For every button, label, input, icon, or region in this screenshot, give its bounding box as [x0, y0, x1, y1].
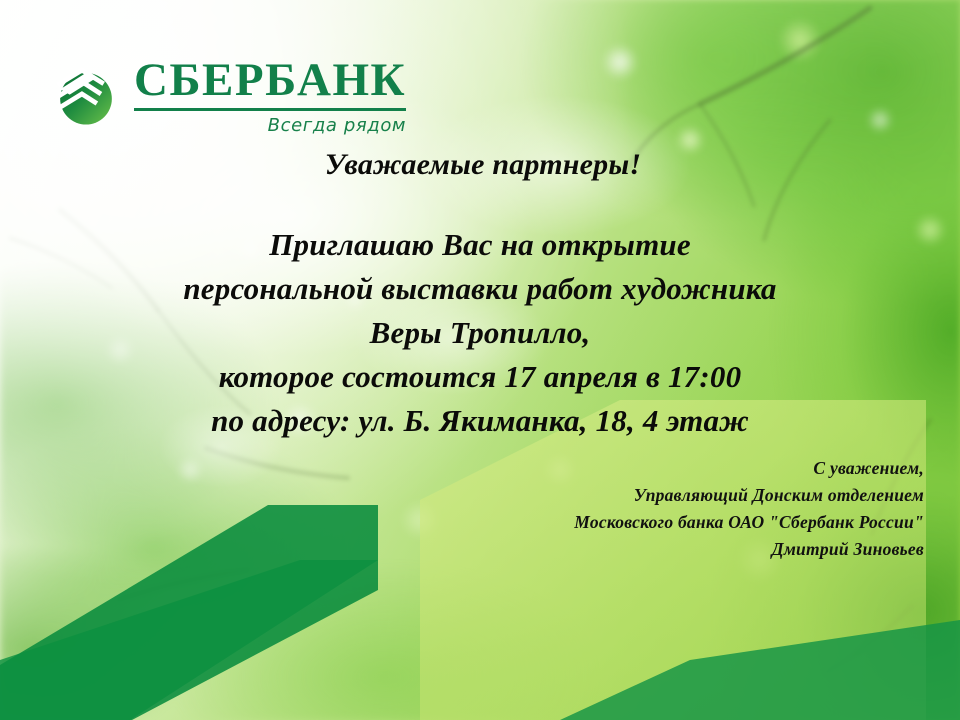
invitation-line-5: по адресу: ул. Б. Якиманка, 18, 4 этаж: [0, 399, 960, 443]
invitation-line-1: Приглашаю Вас на открытие: [0, 223, 960, 267]
sberbank-wordmark: СБЕРБАНК Всегда рядом: [134, 58, 406, 136]
signature-name: Дмитрий Зиновьев: [574, 536, 924, 563]
sberbank-chevron-circle-icon: [52, 62, 120, 130]
decorative-diagonal-band-left: [0, 420, 400, 720]
invitation-slide: СБЕРБАНК Всегда рядом Уважаемые партнеры…: [0, 0, 960, 720]
invitation-body: Приглашаю Вас на открытие персональной в…: [0, 223, 960, 443]
greeting-line: Уважаемые партнеры!: [6, 148, 960, 181]
signature-block: С уважением, Управляющий Донским отделен…: [574, 455, 924, 563]
signature-organization: Московского банка ОАО "Сбербанк России": [574, 509, 924, 536]
invitation-line-3: Веры Тропилло,: [0, 311, 960, 355]
decorative-diagonal-band-left-lower: [0, 560, 420, 720]
logo-title: СБЕРБАНК: [134, 58, 406, 103]
signature-closing: С уважением,: [574, 455, 924, 482]
invitation-line-4: которое состоится 17 апреля в 17:00: [0, 355, 960, 399]
invitation-line-2: персональной выставки работ художника: [0, 267, 960, 311]
logo-divider: [134, 108, 406, 111]
signature-title: Управляющий Донским отделением: [574, 482, 924, 509]
logo-tagline: Всегда рядом: [268, 115, 406, 136]
sberbank-logo: СБЕРБАНК Всегда рядом: [52, 58, 406, 136]
invitation-text-block: Уважаемые партнеры! Приглашаю Вас на отк…: [0, 148, 960, 443]
